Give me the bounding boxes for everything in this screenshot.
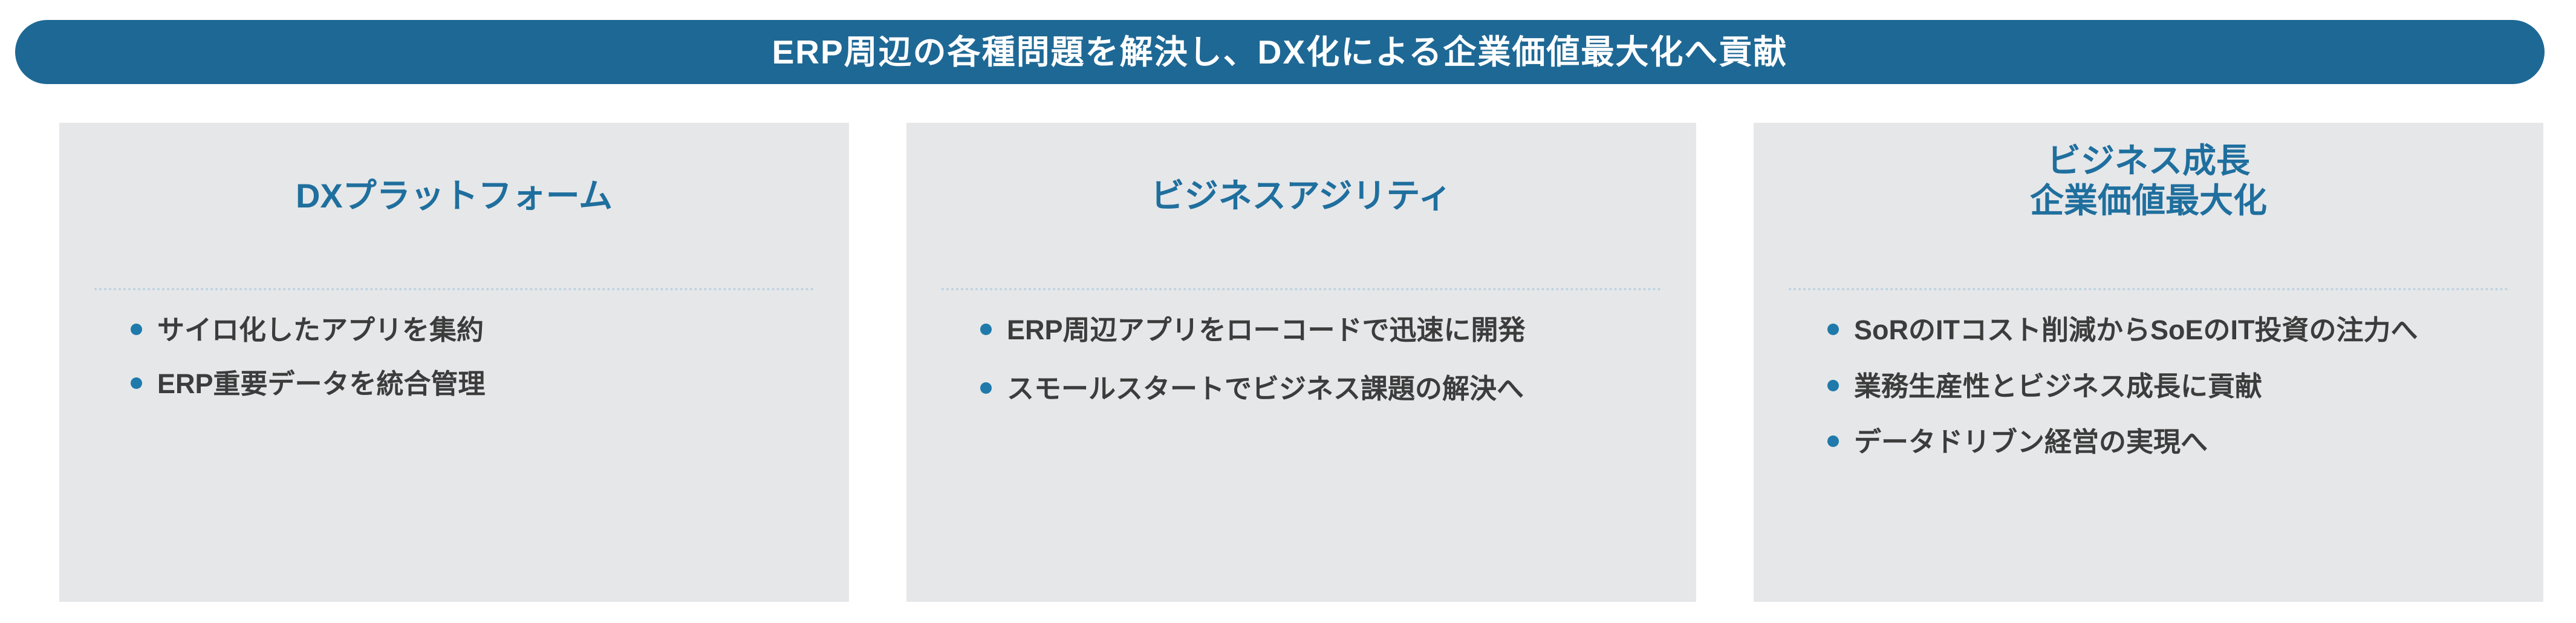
card-divider [942, 288, 1661, 290]
benefit-card-business-agility: ビジネスアジリティ ERP周辺アプリをローコードで迅速に開発 スモールスタートで… [906, 123, 1696, 602]
card-divider [1789, 288, 2508, 290]
card-divider [94, 288, 814, 290]
card-bullet-list: SoRのITコスト削減からSoEのIT投資の注力へ 業務生産性とビジネス成長に貢… [1754, 310, 2543, 478]
list-item: SoRのITコスト削減からSoEのIT投資の注力へ [1827, 310, 2519, 351]
card-title: DXプラットフォーム [59, 176, 849, 216]
list-item: スモールスタートでビジネス課題の解決へ [980, 369, 1660, 409]
headline-banner: ERP周辺の各種問題を解決し、DX化による企業価値最大化へ貢献 [15, 20, 2545, 84]
card-title-line: ビジネスアジリティ [1151, 177, 1452, 215]
card-title: ビジネスアジリティ [906, 176, 1696, 216]
card-title-line: ビジネス成長 [1778, 141, 2519, 181]
card-title: ビジネス成長 企業価値最大化 [1754, 141, 2543, 221]
card-bullet-list: サイロ化したアプリを集約 ERP重要データを統合管理 [59, 310, 849, 417]
benefit-card-row: DXプラットフォーム サイロ化したアプリを集約 ERP重要データを統合管理 ビジ… [59, 123, 2543, 602]
list-item: ERP周辺アプリをローコードで迅速に開発 [980, 310, 1660, 351]
list-item: データドリブン経営の実現へ [1827, 422, 2519, 463]
headline-banner-text: ERP周辺の各種問題を解決し、DX化による企業価値最大化へ貢献 [772, 36, 1788, 69]
benefit-card-business-growth: ビジネス成長 企業価値最大化 SoRのITコスト削減からSoEのIT投資の注力へ… [1754, 123, 2543, 602]
benefit-card-dx-platform: DXプラットフォーム サイロ化したアプリを集約 ERP重要データを統合管理 [59, 123, 849, 602]
list-item: ERP重要データを統合管理 [131, 364, 813, 405]
card-title-line: 企業価値最大化 [1778, 181, 2519, 221]
card-title-line: DXプラットフォーム [296, 177, 613, 215]
card-bullet-list: ERP周辺アプリをローコードで迅速に開発 スモールスタートでビジネス課題の解決へ [906, 310, 1696, 427]
list-item: サイロ化したアプリを集約 [131, 310, 813, 351]
list-item: 業務生産性とビジネス成長に貢献 [1827, 367, 2519, 407]
